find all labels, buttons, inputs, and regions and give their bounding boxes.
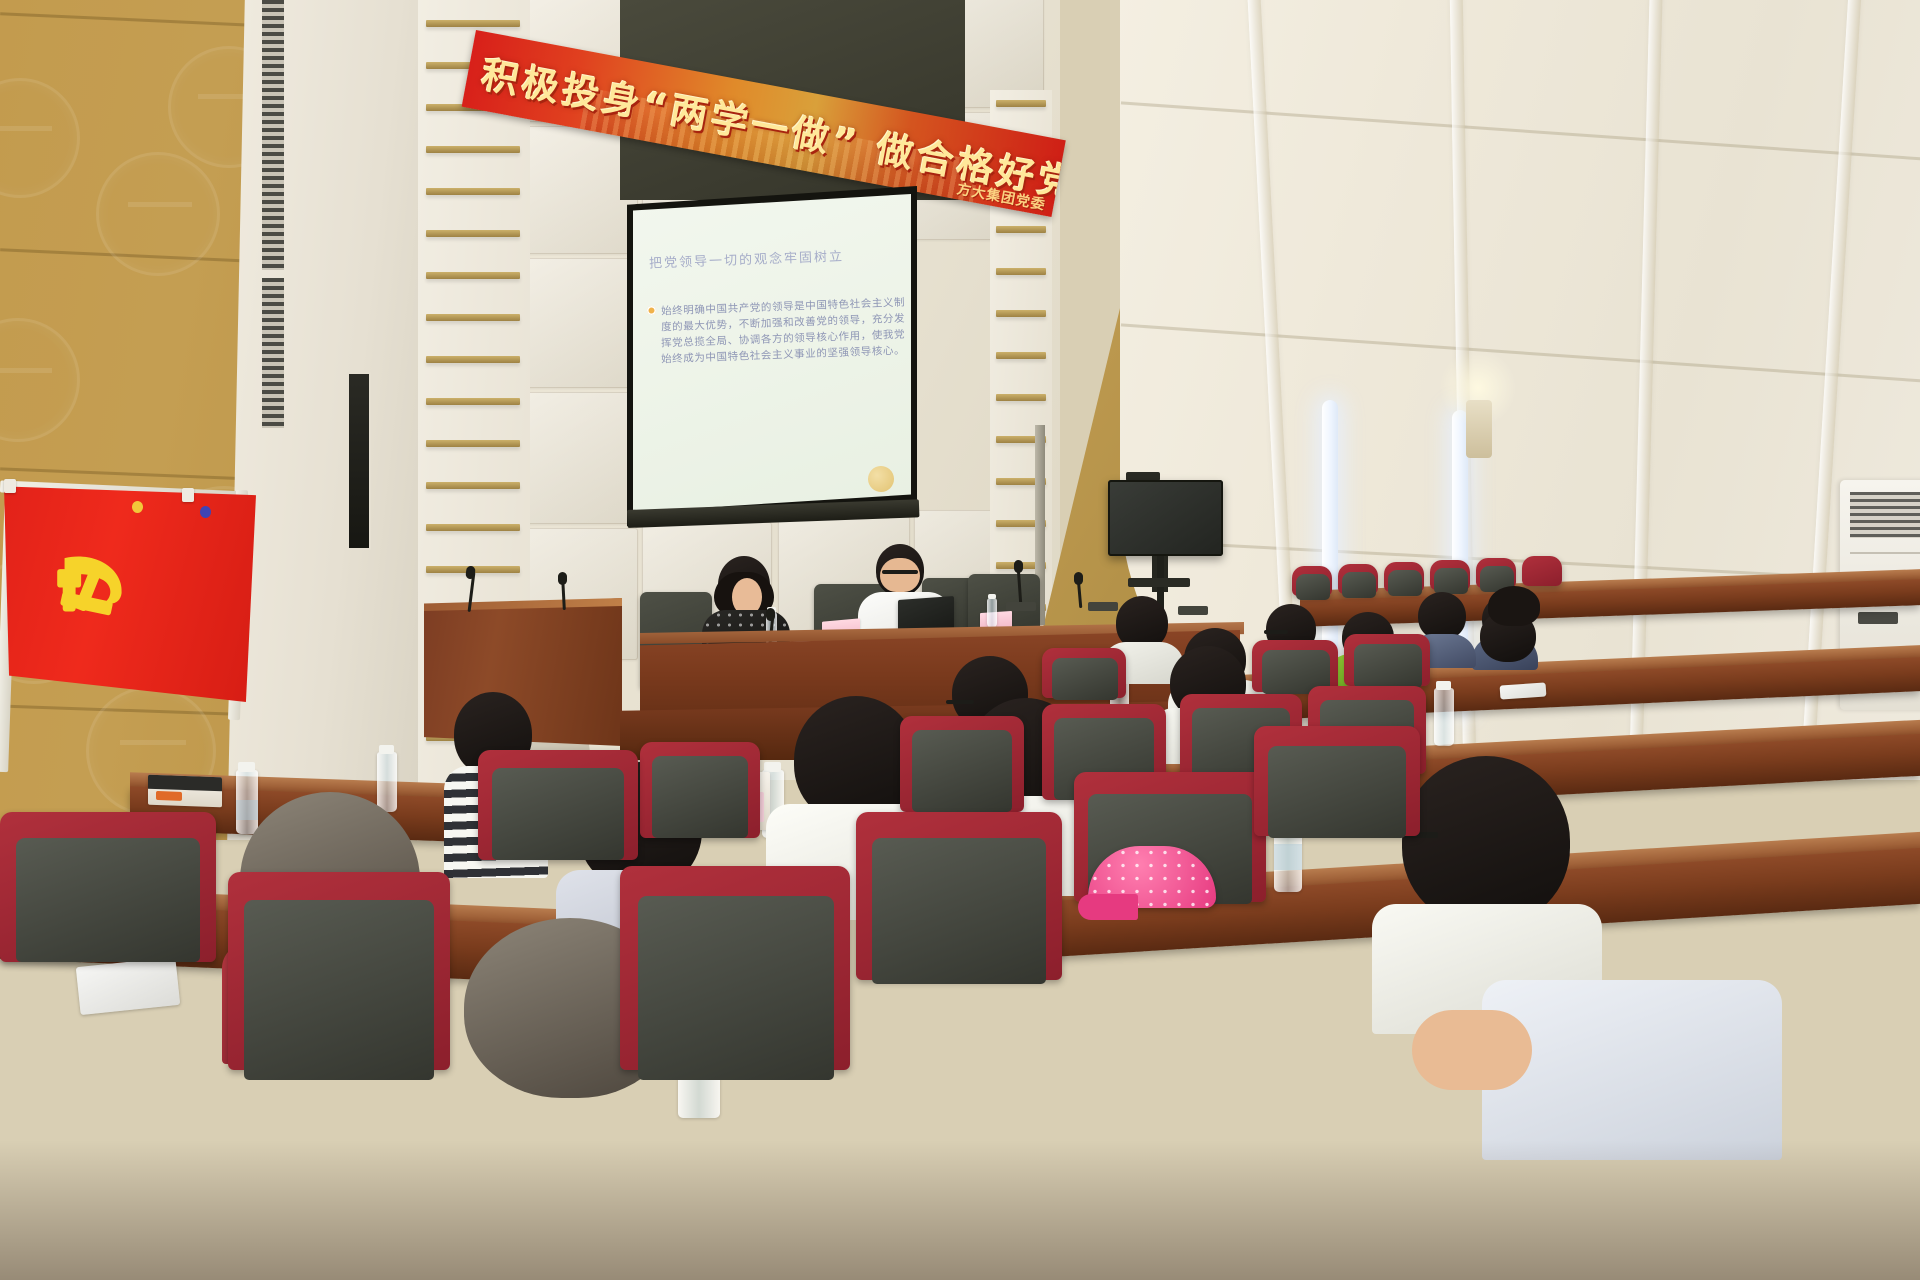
pillar-vent-slot [262, 0, 284, 270]
flag-clip[interactable] [4, 479, 16, 493]
audience-seat-shell[interactable] [492, 768, 624, 860]
tv-stand-foot [1128, 578, 1190, 587]
audience-seat-shell[interactable] [912, 730, 1012, 812]
audience-person [1482, 940, 1782, 1140]
audience-seat-shell[interactable] [244, 900, 434, 1080]
audience-seat[interactable] [1522, 556, 1562, 586]
pillar-vent-slot [262, 278, 284, 428]
audience-seat[interactable] [1296, 574, 1330, 600]
audience-seat-shell[interactable] [1268, 746, 1406, 838]
tissue-box [148, 775, 222, 808]
hammer-and-sickle-icon [48, 536, 140, 628]
tv-monitor [1108, 480, 1223, 556]
audience-seat-shell[interactable] [652, 756, 748, 838]
microphone-base [1178, 606, 1208, 615]
pillar-dark-recess [347, 372, 371, 550]
conference-photo-scene: 积极投身“两学一做” 做合格好党员 方大集团党委 把党领导一切的观念牢固树立 始… [0, 0, 1920, 1280]
party-flag [4, 482, 256, 702]
foreground-shadow [0, 1140, 1920, 1280]
slide-title: 把党领导一切的观念牢固树立 [649, 243, 900, 271]
glasses-icon [1264, 630, 1288, 634]
audience-seat[interactable] [1434, 568, 1468, 594]
microphone-base [1006, 602, 1036, 611]
microphone-head-icon [1014, 560, 1023, 573]
flag-pin[interactable] [200, 506, 211, 518]
wall-logo-icon [0, 318, 80, 442]
wall-logo-icon [0, 78, 80, 198]
microphone-head-icon [1074, 572, 1083, 585]
microphone-head-icon [558, 572, 567, 585]
mobile-phone[interactable] [76, 957, 180, 1015]
water-bottle [987, 598, 997, 628]
flag-pin[interactable] [132, 501, 143, 513]
slide-watermark-icon [868, 466, 895, 493]
ceiling-lamp [1466, 400, 1492, 458]
audience-seat-shell[interactable] [1354, 644, 1422, 688]
audience-seat[interactable] [1342, 572, 1376, 598]
pink-cap [1088, 846, 1218, 916]
water-bottle [1434, 688, 1454, 746]
audience-seat-shell[interactable] [638, 896, 834, 1080]
audience-seat-shell[interactable] [872, 838, 1046, 984]
wall-logo-icon [96, 152, 220, 276]
glasses-icon [882, 570, 918, 574]
projection-screen: 把党领导一切的观念牢固树立 始终明确中国共产党的领导是中国特色社会主义制 度的最… [627, 186, 917, 526]
slide-bullet-icon [647, 306, 656, 315]
audience-person [1488, 586, 1548, 646]
microphone-head-icon [766, 608, 775, 621]
audience-seat-shell[interactable] [1052, 658, 1118, 700]
flag-clip[interactable] [182, 488, 194, 502]
audience-seat-shell[interactable] [16, 838, 200, 962]
